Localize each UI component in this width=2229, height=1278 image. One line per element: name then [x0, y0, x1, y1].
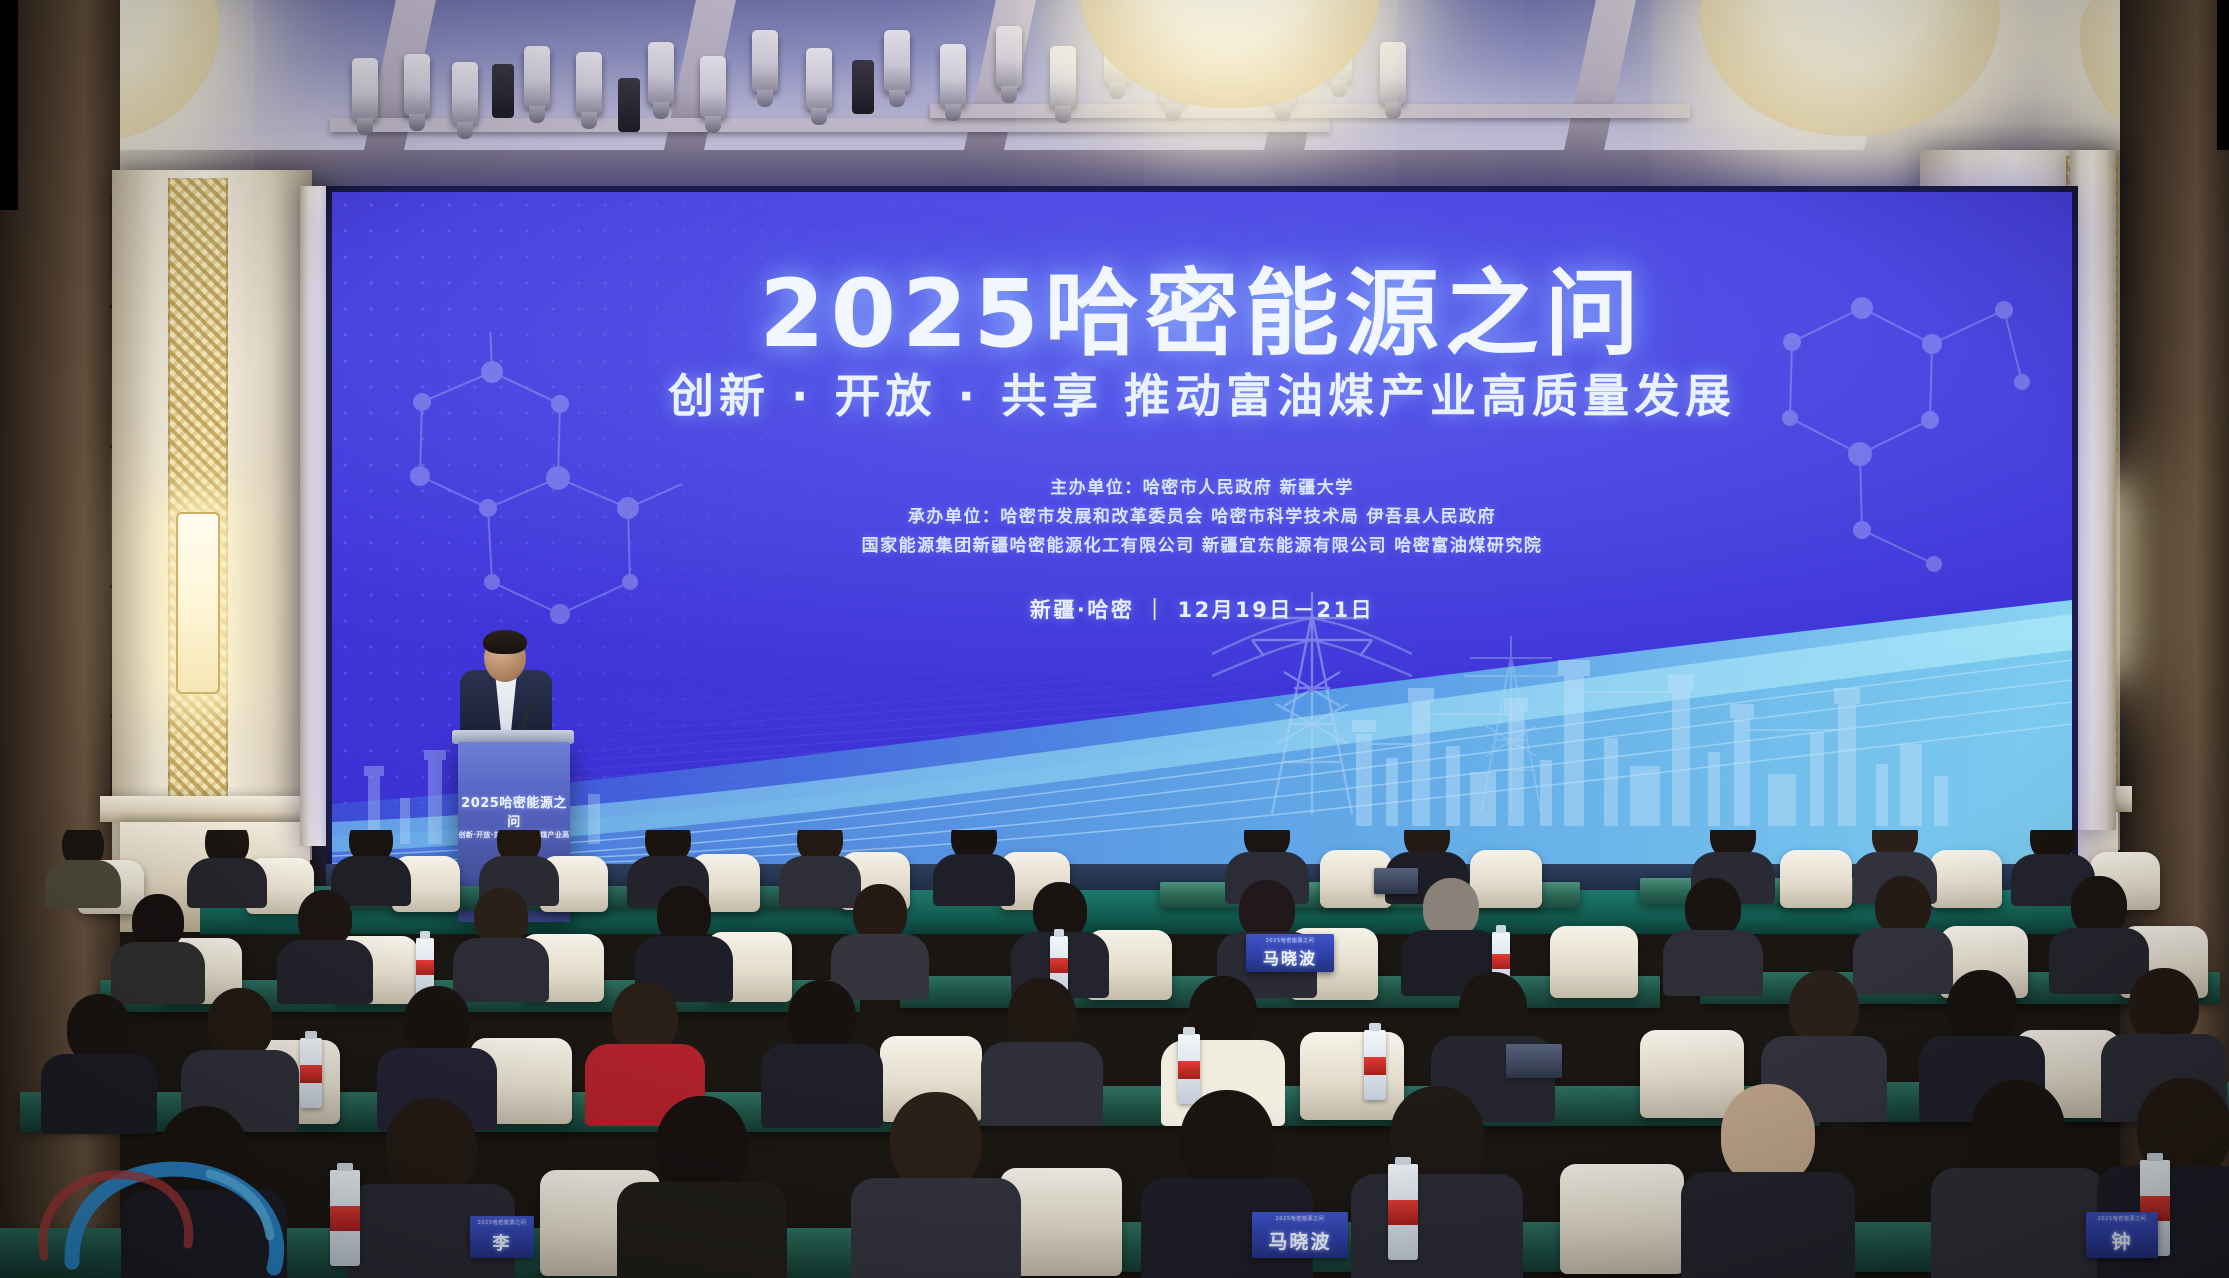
name-placard: 2025哈密能源之问 马晓波 — [1252, 1212, 1348, 1258]
left-pillar-lattice — [168, 178, 228, 838]
placard-name: 李 — [493, 1229, 512, 1254]
screen-organizer-line-2: 承办单位：哈密市发展和改革委员会 哈密市科学技术局 伊吾县人民政府 — [332, 503, 2072, 532]
laptop — [1506, 1044, 1562, 1078]
stage-light — [524, 46, 550, 108]
stage-light — [1380, 42, 1406, 104]
audience-person — [120, 1106, 288, 1278]
audience-person — [330, 830, 412, 896]
audience-person — [634, 886, 734, 988]
audience-person — [478, 830, 560, 896]
audience-person — [1400, 878, 1502, 982]
stage-light — [884, 30, 910, 92]
chair — [1560, 1164, 1684, 1274]
industrial-plant-graphic — [1342, 616, 1962, 826]
placard-header: 2025哈密能源之问 — [1246, 937, 1334, 944]
placard-header: 2025哈密能源之问 — [470, 1219, 534, 1226]
name-placard: 2025哈密能源之问 马晓波 — [1246, 934, 1334, 972]
chair — [1550, 926, 1638, 998]
placard-name: 钟 — [2111, 1227, 2132, 1254]
audience-person — [616, 1096, 788, 1276]
name-placard: 2025哈密能源之问 李 — [470, 1216, 534, 1258]
audience-person — [830, 884, 930, 986]
stage-light — [852, 60, 874, 114]
water-bottle — [300, 1038, 322, 1108]
name-placard: 2025哈密能源之问 钟 — [2086, 1212, 2158, 1258]
conference-hall-scene: 2025哈密能源之问 创新 · 开放 · 共享 推动富油煤产业高质量发展 主办单… — [0, 0, 2229, 1278]
lighting-truss — [930, 104, 1690, 118]
screen-organizer-line-3: 国家能源集团新疆哈密能源化工有限公司 新疆宜东能源有限公司 哈密富油煤研究院 — [332, 532, 2072, 561]
stage-light — [576, 52, 602, 114]
audience-person — [1662, 878, 1764, 982]
stage-light — [996, 26, 1022, 88]
placard-header: 2025哈密能源之问 — [2086, 1215, 2158, 1222]
audience-person — [932, 830, 1016, 896]
audience-person — [40, 994, 158, 1122]
screen-title: 2025哈密能源之问 — [332, 238, 2072, 374]
placard-name: 马晓波 — [1263, 945, 1317, 969]
audience-person — [276, 890, 374, 990]
lighting-truss — [330, 118, 1330, 132]
audience-person — [1930, 1080, 2106, 1266]
stage-light — [700, 56, 726, 118]
audience-person — [452, 888, 550, 988]
stage-light — [492, 64, 514, 118]
stage-light — [752, 30, 778, 92]
stage-light — [618, 78, 640, 132]
letterbox-left — [0, 0, 18, 210]
audience-person — [110, 894, 206, 992]
water-bottle — [330, 1170, 360, 1266]
stage-light — [648, 42, 674, 104]
placard-name: 马晓波 — [1268, 1227, 1331, 1254]
audience-person — [1350, 1086, 1524, 1268]
placard-header: 2025哈密能源之问 — [1252, 1215, 1348, 1222]
left-pillar-base — [100, 796, 328, 822]
stage-light — [452, 62, 478, 124]
stage-light — [806, 48, 832, 110]
audience-person — [584, 982, 706, 1114]
water-bottle — [1388, 1164, 1418, 1260]
stage-light — [352, 58, 378, 120]
screen-organizer-line-1: 主办单位：哈密市人民政府 新疆大学 — [332, 474, 2072, 503]
stage-light — [940, 44, 966, 106]
screen-subtitle: 创新 · 开放 · 共享 推动富油煤产业高质量发展 — [332, 360, 2072, 426]
left-wall-sconce — [176, 512, 220, 694]
audience-area: 2025哈密能源之问 马晓波 — [0, 830, 2229, 1278]
letterbox-right — [2217, 0, 2229, 150]
audience-person — [850, 1092, 1022, 1272]
speaker-hair — [483, 630, 527, 654]
audience-person — [180, 988, 300, 1118]
chair — [1780, 850, 1852, 908]
audience-person — [2048, 876, 2150, 980]
audience-person — [1680, 1084, 1856, 1268]
screen-date-location: 新疆·哈密 ｜ 12月19日－21日 — [332, 594, 2072, 624]
audience-person — [44, 830, 122, 898]
podium-sign-title: 2025哈密能源之问 — [458, 792, 570, 830]
stage-light — [1050, 46, 1076, 108]
led-screen: 2025哈密能源之问 创新 · 开放 · 共享 推动富油煤产业高质量发展 主办单… — [332, 192, 2072, 864]
audience-person — [186, 830, 268, 898]
audience-person — [1852, 876, 1954, 980]
stage-light — [404, 54, 430, 116]
